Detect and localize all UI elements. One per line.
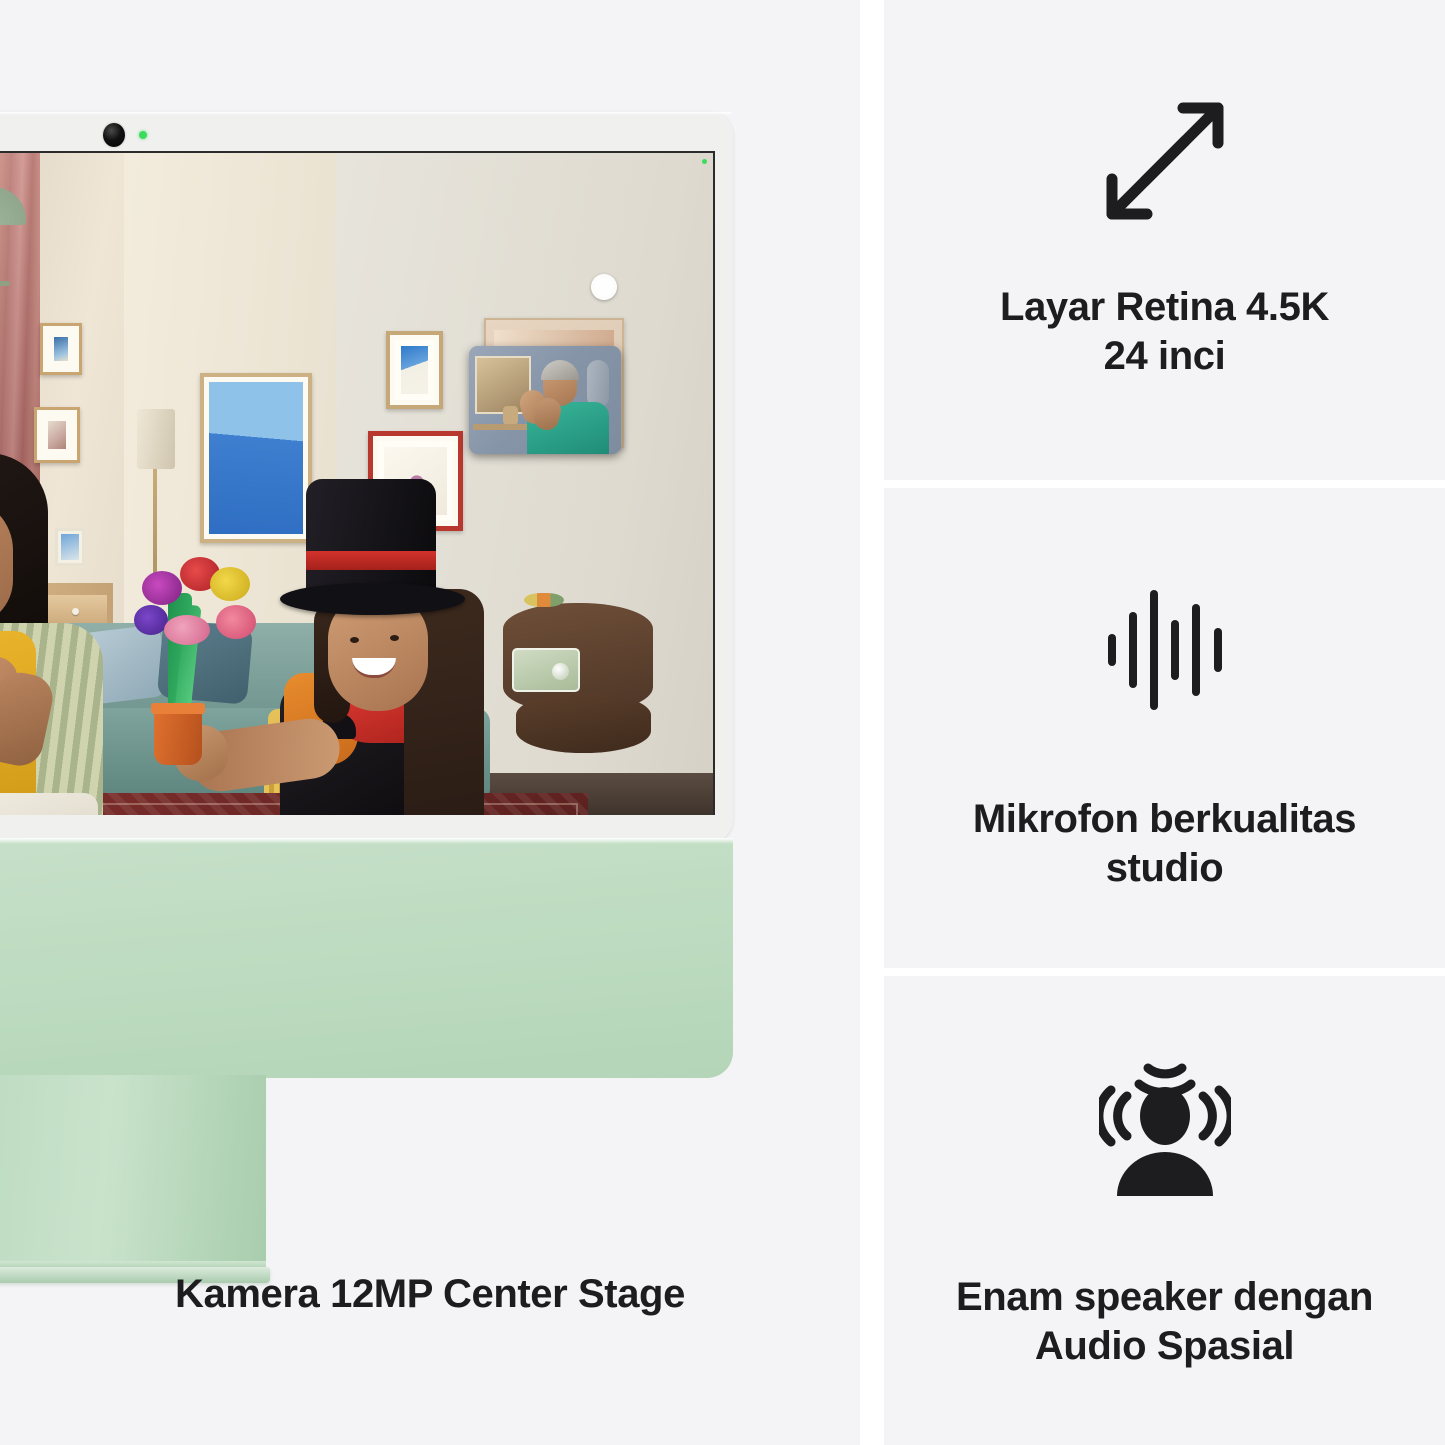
spatial-audio-feature-label: Enam speaker dengan Audio Spasial [956, 1273, 1373, 1371]
microphone-feature-panel: Mikrofon berkualitas studio [884, 488, 1445, 968]
facetime-video-feed [0, 153, 713, 815]
imac-feature-panel: Kamera 12MP Center Stage [0, 0, 860, 1445]
pip-speaker [587, 360, 609, 408]
screenshot-root: Kamera 12MP Center Stage Layar Retina 4.… [0, 0, 1445, 1445]
floor-lamp-shade [137, 409, 175, 469]
magician-top-hat-band [306, 551, 436, 570]
spatial-audio-feature-panel: Enam speaker dengan Audio Spasial [884, 976, 1445, 1445]
flower-purple [134, 605, 168, 635]
imac-chin [0, 838, 733, 1078]
wall-art-small-sketch [34, 407, 80, 463]
flower-magenta [142, 571, 182, 605]
pip-vase [503, 406, 518, 425]
wall-art-large-blue [200, 373, 312, 543]
magician-top-hat-brim [280, 583, 465, 615]
imac-stand-neck [0, 1075, 266, 1275]
wall-art-small-blue [40, 323, 82, 375]
retina-feature-label: Layar Retina 4.5K 24 inci [1000, 283, 1329, 381]
microphone-feature-label: Mikrofon berkualitas studio [973, 795, 1356, 893]
woman-trousers [0, 793, 98, 815]
desk-photo-frame [55, 528, 85, 566]
imac-screen [0, 151, 715, 815]
camera-lens-icon [103, 123, 125, 147]
imac-display-bezel [0, 112, 733, 842]
audio-waveform-icon [1106, 580, 1224, 725]
picture-in-picture-window[interactable] [469, 346, 621, 454]
flower-yellow [210, 567, 250, 601]
diagonal-expand-arrows-icon [1100, 96, 1230, 231]
screen-corner-led [702, 159, 707, 164]
facetime-control-button[interactable] [591, 274, 617, 300]
spatial-audio-person-icon [1099, 1046, 1231, 1211]
decor-fruit-bowl [524, 593, 564, 607]
side-table-shelf [516, 693, 651, 753]
flower-pot [154, 703, 202, 765]
retina-feature-panel: Layar Retina 4.5K 24 inci [884, 0, 1445, 480]
vintage-radio [512, 648, 580, 692]
magician-top-hat-crown [306, 479, 436, 594]
artwork-lamp-base [0, 281, 10, 286]
flower-pink-low [164, 615, 210, 645]
wall-art-photo [386, 331, 443, 409]
flower-pink [216, 605, 256, 639]
camera-indicator-led [139, 131, 147, 139]
imac-device [0, 112, 733, 842]
imac-caption-text: Kamera 12MP Center Stage [0, 1272, 860, 1317]
